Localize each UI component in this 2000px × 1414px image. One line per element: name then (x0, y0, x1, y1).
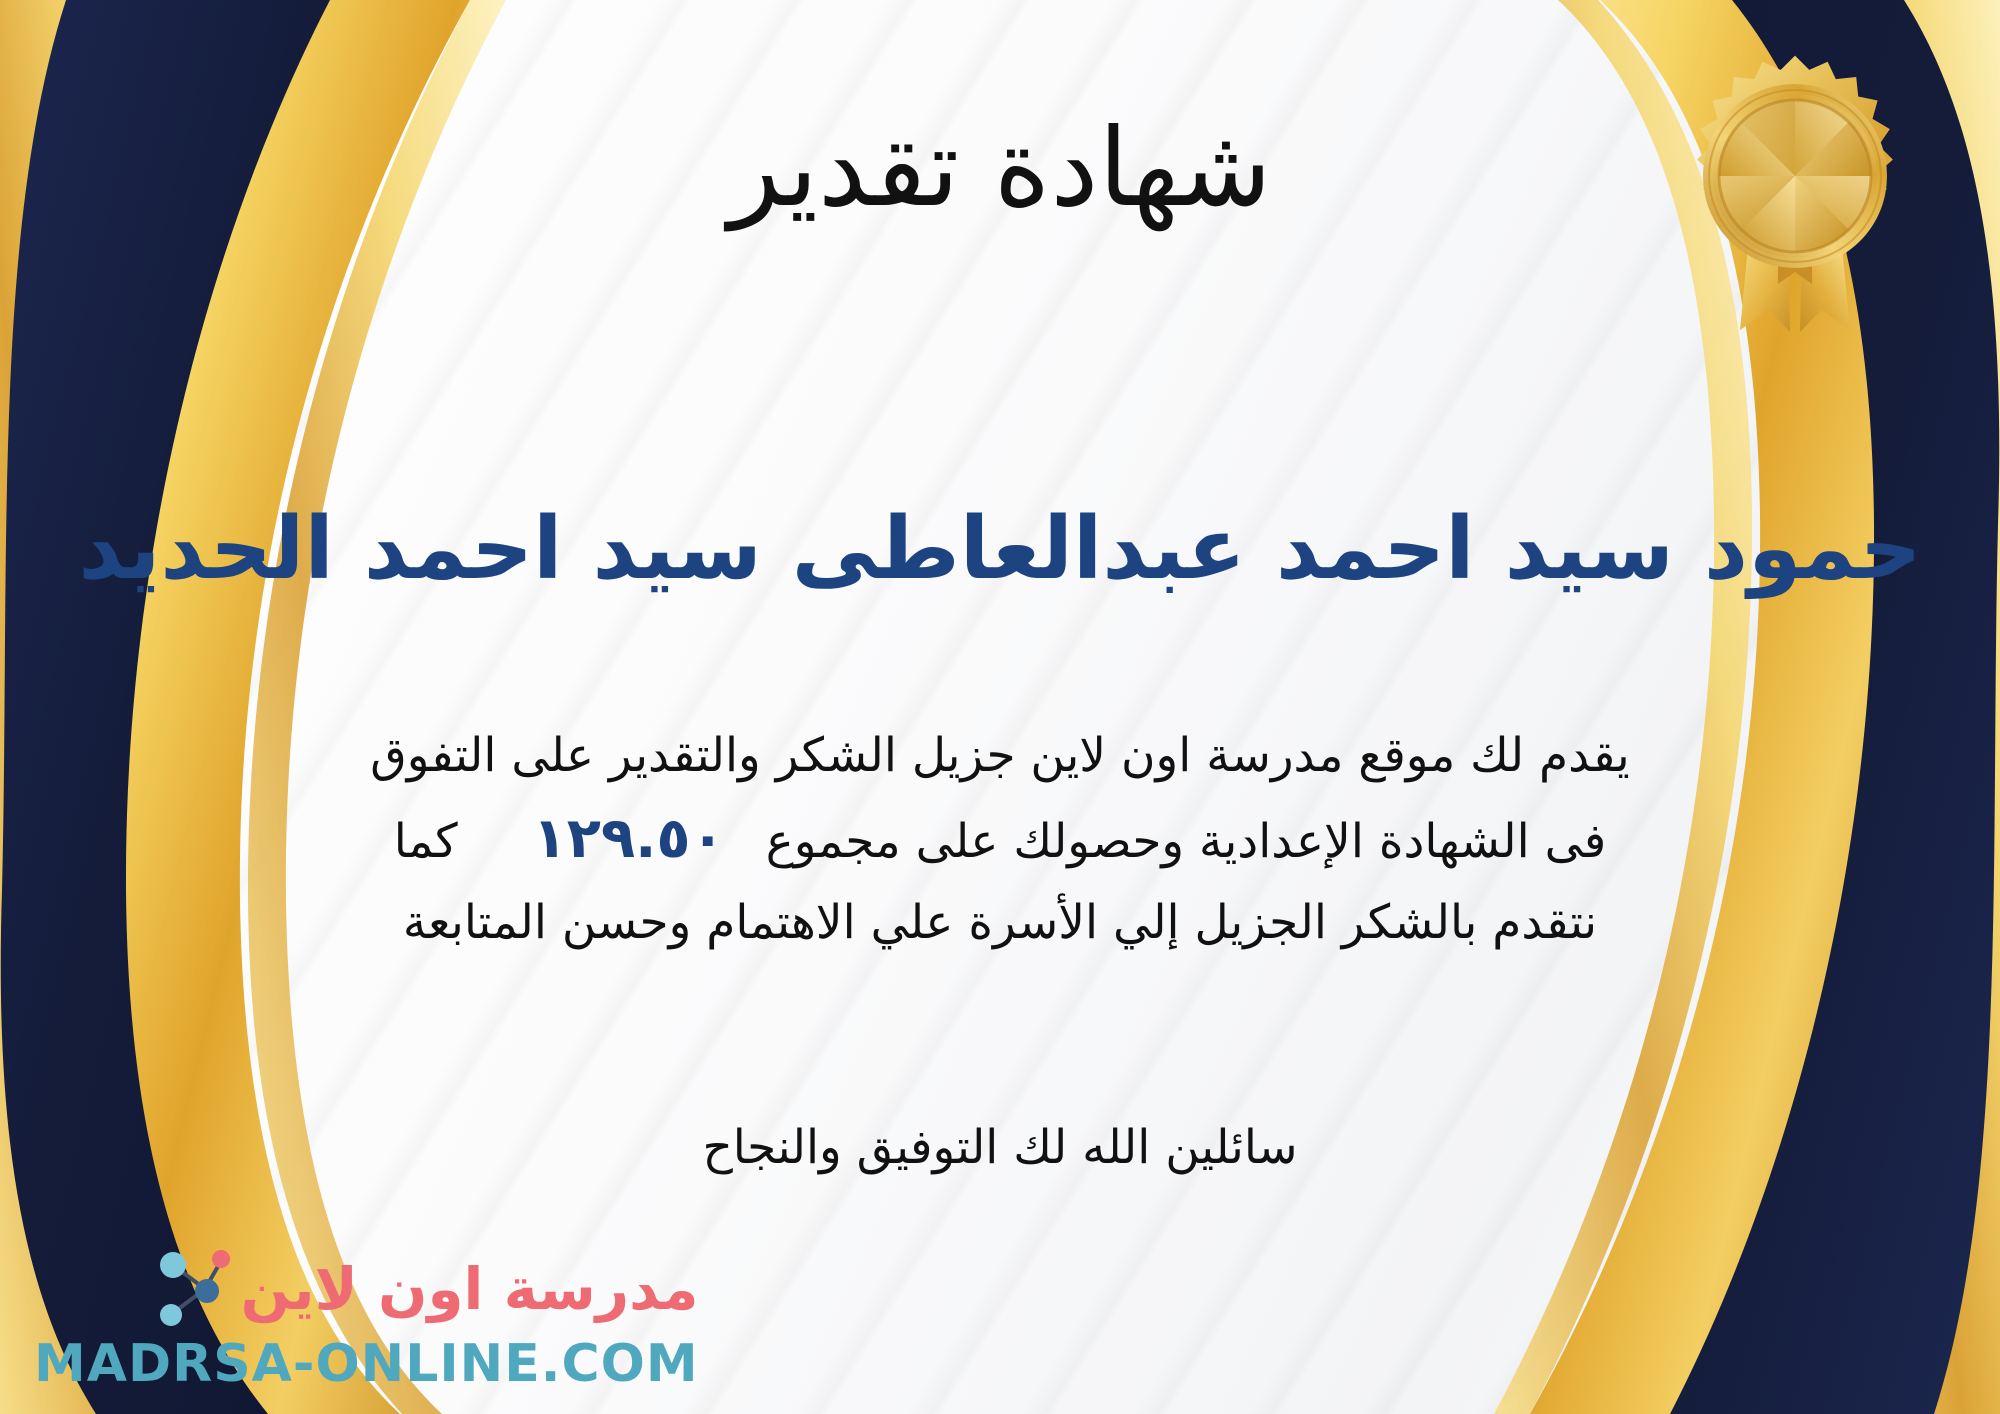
body-line-3: نتقدم بالشكر الجزيل إلي الأسرة علي الاهت… (70, 885, 1930, 961)
student-name: حمود سيد احمد عبدالعاطى سيد احمد الحديد (0, 500, 2000, 599)
body-line-2: فى الشهادة الإعدادية وحصولك على مجموع ١٢… (70, 794, 1930, 885)
body-line-2-text-b: كما (394, 804, 492, 880)
certificate-page: شهادة تقدير حمود سيد احمد عبدالعاطى سيد … (0, 0, 2000, 1414)
certificate-body: يقدم لك موقع مدرسة اون لاين جزيل الشكر و… (70, 718, 1930, 961)
closing-wish: سائلين الله لك التوفيق والنجاح (0, 1120, 2000, 1175)
brand-arabic-row: مدرسة اون لاين (151, 1243, 699, 1335)
certificate-title: شهادة تقدير (0, 112, 2000, 225)
body-line-2-text-a: فى الشهادة الإعدادية وحصولك على مجموع (766, 814, 1607, 869)
network-nodes-icon (151, 1243, 231, 1335)
body-line-1: يقدم لك موقع مدرسة اون لاين جزيل الشكر و… (70, 718, 1930, 794)
brand-website[interactable]: MADRSA-ONLINE.COM (34, 1337, 699, 1392)
grade-total-value: ١٢٩.٥٠ (507, 794, 751, 885)
brand-logo[interactable]: مدرسة اون لاين MADRSA-ONLINE.COM (34, 1243, 699, 1392)
brand-arabic-name: مدرسة اون لاين (241, 1259, 699, 1320)
